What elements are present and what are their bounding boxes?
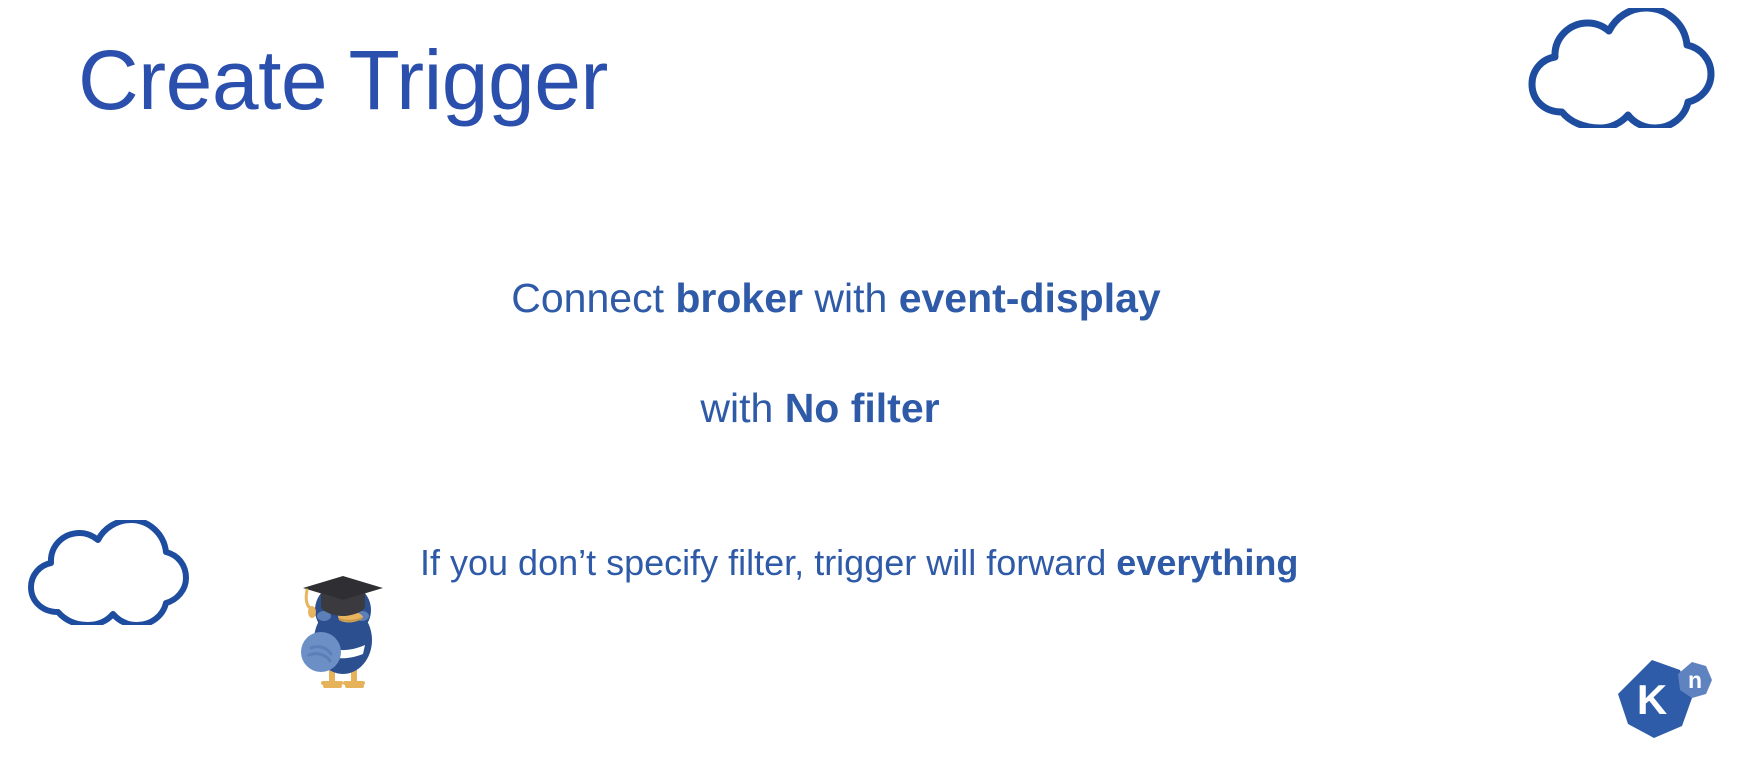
body-line-3: If you don’t specify filter, trigger wil… [420, 542, 1298, 584]
knative-logo-letter-n: n [1688, 667, 1702, 693]
line3-bold-everything: everything [1116, 542, 1298, 583]
line2-bold-no-filter: No filter [785, 385, 940, 431]
knative-logo: K n [1612, 652, 1722, 752]
page-title: Create Trigger [78, 38, 608, 122]
graduate-bird-mascot-icon [295, 562, 391, 690]
cloud-icon [1518, 8, 1718, 128]
slide-canvas: Create Trigger Connect broker with event… [0, 0, 1750, 766]
body-line-2: with No filter [0, 385, 1750, 432]
line2-prefix: with [700, 385, 784, 431]
line1-bold-event-display: event-display [899, 275, 1161, 321]
line1-middle: with [803, 275, 899, 321]
body-line-1: Connect broker with event-display [0, 275, 1750, 322]
cloud-icon [20, 520, 190, 625]
knative-logo-letter-k: K [1637, 676, 1667, 723]
line3-prefix: If you don’t specify filter, trigger wil… [420, 542, 1116, 583]
line1-prefix: Connect [511, 275, 675, 321]
line1-bold-broker: broker [675, 275, 803, 321]
